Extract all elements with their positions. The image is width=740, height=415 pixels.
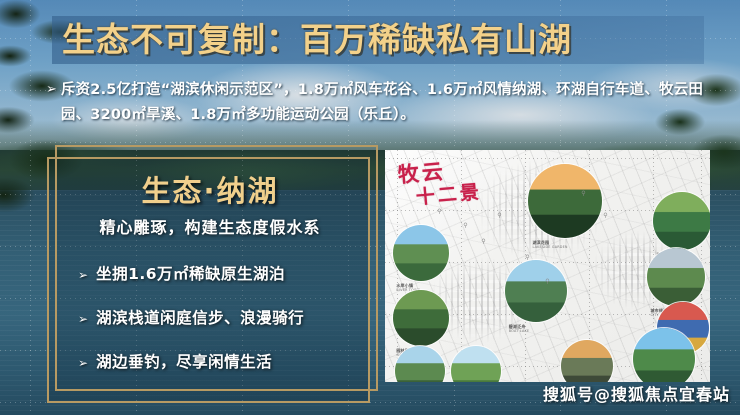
list-item: ➢ 坐拥1.6万㎡稀缺原生湖泊 [78, 262, 368, 284]
map-pin-icon: ⚲ [525, 254, 530, 261]
panel-heading: 生态·纳湖 [55, 168, 365, 210]
list-item-label: 湖边垂钓，尽享闲情生活 [96, 350, 272, 372]
map-collage: 牧云 十二景 湖滨花园LAKESIDE GARDEN生态绿岛ECO ISLAND… [385, 150, 710, 382]
map-photo-river-town [393, 225, 449, 281]
arrow-right-icon: ➢ [78, 268, 88, 282]
arrow-right-icon: ➢ [78, 356, 88, 370]
subtitle-text: 斥资2.5亿打造“湖滨休闲示范区”，1.8万㎡风车花谷、1.6万㎡风情纳湖、环湖… [61, 78, 726, 128]
subtitle-block: ➢ 斥资2.5亿打造“湖滨休闲示范区”，1.8万㎡风车花谷、1.6万㎡风情纳湖、… [46, 78, 726, 128]
map-photo-label: 湖滨花园LAKESIDE GARDEN [532, 240, 567, 250]
map-pin-icon: ⚲ [437, 208, 442, 215]
list-item: ➢ 湖边垂钓，尽享闲情生活 [78, 350, 368, 372]
slide-root: 生态不可复制：百万稀缺私有山湖 ➢ 斥资2.5亿打造“湖滨休闲示范区”，1.8万… [0, 0, 740, 415]
map-photo-lake-sunrise [528, 164, 602, 238]
map-photo-green-island [653, 192, 710, 250]
watermark-text: 搜狐号@搜狐焦点宜春站 [543, 381, 730, 405]
list-item: ➢ 湖滨栈道闲庭信步、浪漫骑行 [78, 306, 368, 328]
map-pin-icon: ⚲ [463, 222, 468, 229]
map-calligraphy-title: 牧云 十二景 [397, 154, 497, 216]
page-title: 生态不可复制：百万稀缺私有山湖 [62, 18, 702, 62]
map-photo-label: 碧湖泛舟BOAT LAKE [509, 324, 530, 334]
arrow-right-icon: ➢ [46, 78, 57, 102]
panel-bullet-list: ➢ 坐拥1.6万㎡稀缺原生湖泊 ➢ 湖滨栈道闲庭信步、浪漫骑行 ➢ 湖边垂钓，尽… [78, 262, 368, 394]
map-pin-icon: ⚲ [603, 212, 608, 219]
list-item-label: 湖滨栈道闲庭信步、浪漫骑行 [96, 306, 304, 328]
map-pin-icon: ⚲ [497, 212, 502, 219]
arrow-right-icon: ➢ [78, 312, 88, 326]
list-item-label: 坐拥1.6万㎡稀缺原生湖泊 [96, 262, 285, 284]
map-pin-icon: ⚲ [481, 238, 486, 245]
map-photo-hill-view [633, 328, 695, 382]
map-pin-icon: ⚲ [581, 190, 586, 197]
map-pin-icon: ⚲ [545, 278, 550, 285]
map-photo-city-greenway [647, 248, 705, 306]
panel-subheading: 精心雕琢，构建生态度假水系 [55, 214, 365, 238]
map-photo-garden-court [393, 290, 449, 346]
map-photo-boat-lake [505, 260, 567, 322]
